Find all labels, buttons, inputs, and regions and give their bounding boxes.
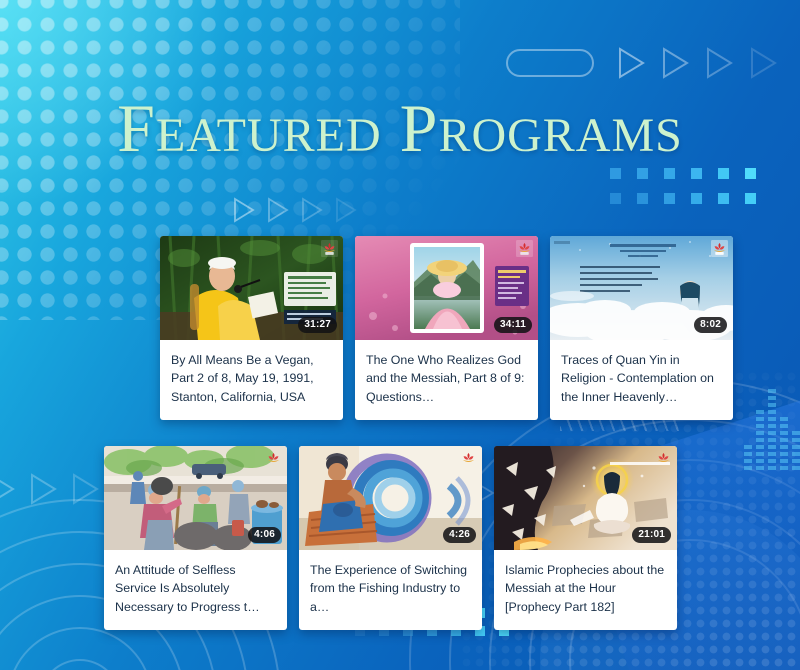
equalizer-dash (768, 452, 776, 456)
equalizer-dash (780, 459, 788, 463)
square-dot (691, 193, 702, 204)
play-triangle-icon (616, 46, 646, 80)
card-title: An Attitude of Selfless Service Is Absol… (104, 550, 287, 630)
square-dot (718, 168, 729, 179)
play-triangle-icon (660, 46, 690, 80)
duration-badge: 4:06 (248, 527, 281, 543)
featured-programs-banner: Featured Programs (0, 0, 800, 670)
thumbnail-vegan-lecture[interactable]: 31:27 (160, 236, 343, 340)
equalizer-dash (768, 431, 776, 435)
play-triangle-icon (0, 472, 16, 506)
equalizer-dash (768, 410, 776, 414)
square-dot (664, 168, 675, 179)
square-dot (637, 193, 648, 204)
equalizer-dash (780, 438, 788, 442)
program-card[interactable]: 31:27 By All Means Be a Vegan, Part 2 of… (160, 236, 343, 420)
play-triangle-icon (704, 46, 734, 80)
supreme-master-logo (321, 240, 338, 257)
square-dot (637, 168, 648, 179)
equalizer-column (744, 445, 752, 470)
equalizer-bars-decor (744, 300, 800, 470)
duration-badge: 21:01 (632, 527, 671, 543)
thumbnail-realizes-god[interactable]: 34:11 (355, 236, 538, 340)
equalizer-column (756, 410, 764, 470)
duration-badge: 34:11 (494, 317, 532, 333)
duration-badge: 4:26 (443, 527, 476, 543)
program-card[interactable]: 4:26 The Experience of Switching from th… (299, 446, 482, 630)
thumbnail-quan-yin-clouds[interactable]: 8:02 (550, 236, 733, 340)
square-dot (664, 193, 675, 204)
equalizer-dash (756, 445, 764, 449)
supreme-master-logo (460, 450, 477, 467)
program-card[interactable]: 34:11 The One Who Realizes God and the M… (355, 236, 538, 420)
equalizer-dash (756, 417, 764, 421)
equalizer-dash (768, 466, 776, 470)
card-title: The Experience of Switching from the Fis… (299, 550, 482, 630)
thumbnail-islamic-prophecies[interactable]: 21:01 (494, 446, 677, 550)
duration-badge: 8:02 (694, 317, 727, 333)
square-grid-row (610, 168, 782, 179)
play-triangle-icon (300, 196, 324, 224)
play-triangle-icon (748, 46, 778, 80)
featured-cards-row-1: 31:27 By All Means Be a Vegan, Part 2 of… (160, 236, 733, 420)
equalizer-dash (744, 466, 752, 470)
equalizer-dash (792, 466, 800, 470)
equalizer-dash (768, 403, 776, 407)
card-title: By All Means Be a Vegan, Part 2 of 8, Ma… (160, 340, 343, 420)
card-title: Traces of Quan Yin in Religion - Contemp… (550, 340, 733, 420)
equalizer-column (792, 431, 800, 470)
equalizer-dash (744, 445, 752, 449)
square-dot (610, 193, 621, 204)
equalizer-dash (756, 466, 764, 470)
equalizer-dash (768, 389, 776, 393)
equalizer-dash (768, 396, 776, 400)
square-grid-top-right (610, 168, 782, 230)
equalizer-dash (768, 424, 776, 428)
square-dot (745, 193, 756, 204)
equalizer-dash (780, 424, 788, 428)
page-title: Featured Programs (0, 94, 800, 162)
play-triangle-icon (334, 196, 358, 224)
play-triangle-icon (266, 196, 290, 224)
program-card[interactable]: 4:06 An Attitude of Selfless Service Is … (104, 446, 287, 630)
equalizer-column (768, 389, 776, 470)
equalizer-dash (792, 452, 800, 456)
equalizer-dash (756, 424, 764, 428)
thumbnail-fishing-industry[interactable]: 4:26 (299, 446, 482, 550)
supreme-master-logo (655, 450, 672, 467)
play-triangle-icon (28, 472, 58, 506)
equalizer-dash (756, 431, 764, 435)
square-dot (691, 168, 702, 179)
equalizer-dash (756, 410, 764, 414)
program-card[interactable]: 21:01 Islamic Prophecies about the Messi… (494, 446, 677, 630)
equalizer-dash (792, 438, 800, 442)
supreme-master-logo (265, 450, 282, 467)
card-title: Islamic Prophecies about the Messiah at … (494, 550, 677, 630)
arrow-group-top-right (506, 46, 778, 80)
rounded-pill-decor (506, 49, 594, 77)
equalizer-dash (744, 452, 752, 456)
equalizer-dash (792, 431, 800, 435)
equalizer-dash (768, 438, 776, 442)
equalizer-dash (768, 445, 776, 449)
equalizer-dash (744, 459, 752, 463)
equalizer-dash (780, 417, 788, 421)
square-grid-row (610, 193, 782, 204)
equalizer-dash (768, 459, 776, 463)
equalizer-dash (756, 459, 764, 463)
arrow-group-bottom-left (0, 472, 100, 506)
equalizer-dash (756, 452, 764, 456)
card-title: The One Who Realizes God and the Messiah… (355, 340, 538, 420)
equalizer-dash (768, 417, 776, 421)
equalizer-dash (780, 466, 788, 470)
equalizer-dash (780, 452, 788, 456)
square-dot (610, 168, 621, 179)
play-triangle-icon (70, 472, 100, 506)
play-triangle-icon (232, 196, 256, 224)
equalizer-dash (780, 445, 788, 449)
equalizer-dash (792, 445, 800, 449)
equalizer-dash (756, 438, 764, 442)
program-card[interactable]: 8:02 Traces of Quan Yin in Religion - Co… (550, 236, 733, 420)
equalizer-dash (780, 431, 788, 435)
duration-badge: 31:27 (298, 317, 337, 333)
square-dot (745, 168, 756, 179)
supreme-master-logo (516, 240, 533, 257)
featured-cards-row-2: 4:06 An Attitude of Selfless Service Is … (104, 446, 677, 630)
equalizer-column (780, 417, 788, 470)
equalizer-dash (792, 459, 800, 463)
thumbnail-selfless-service[interactable]: 4:06 (104, 446, 287, 550)
square-dot (718, 193, 729, 204)
arrow-group-mid-left (232, 196, 358, 224)
supreme-master-logo (711, 240, 728, 257)
